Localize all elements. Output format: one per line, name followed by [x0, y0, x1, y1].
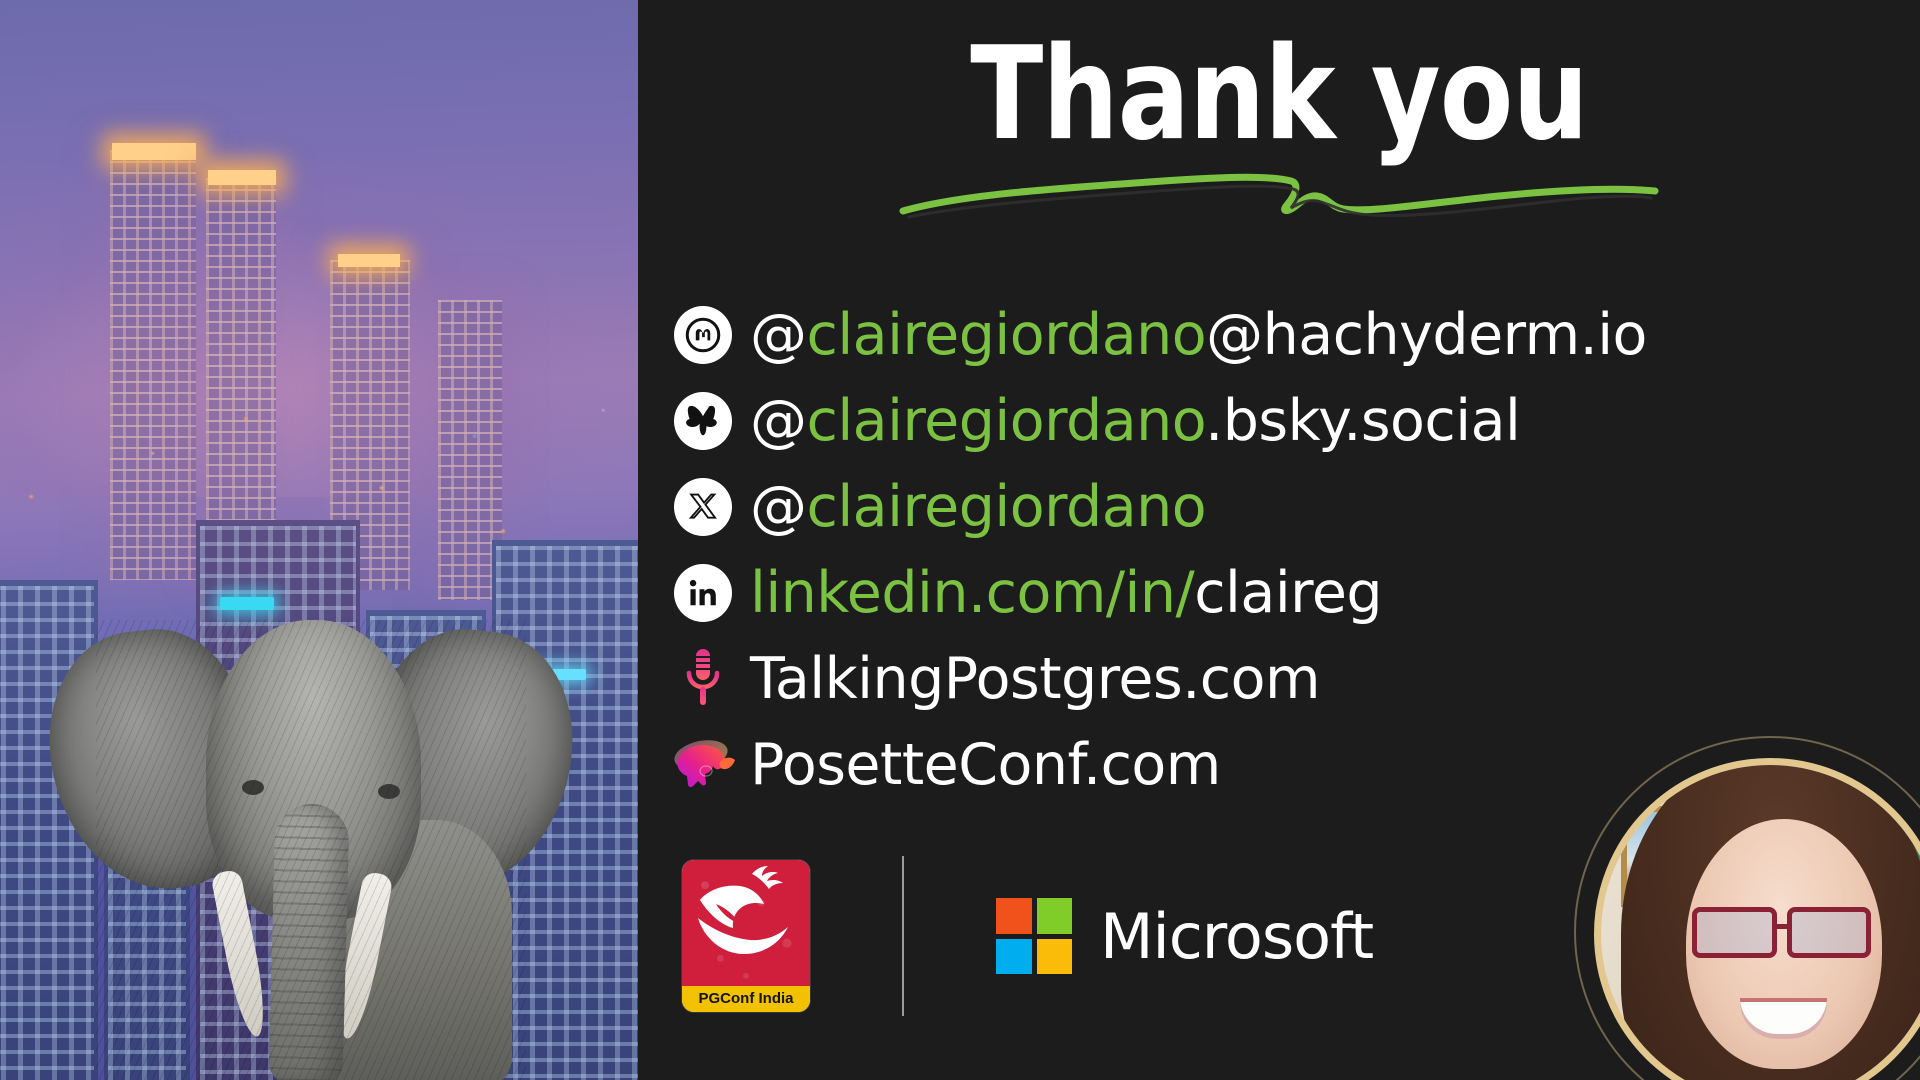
- at-prefix: @: [750, 388, 807, 454]
- pgconf-caption: PGConf India: [682, 986, 810, 1012]
- avatar-glasses-right: [1787, 907, 1872, 958]
- microphone-icon-slot: [656, 646, 750, 712]
- x-twitter-icon[interactable]: [674, 478, 732, 536]
- city-skyline-image: [0, 0, 638, 1080]
- tower-crown-light: [208, 170, 276, 185]
- title-block: Thank you: [638, 30, 1920, 223]
- posette-elephant-icon[interactable]: [667, 735, 739, 795]
- pgconf-india-logo: PGConf India: [682, 860, 810, 1012]
- elephant-eye-right: [378, 784, 400, 799]
- ms-square-blue: [996, 939, 1032, 975]
- mastodon-icon-slot: [656, 306, 750, 364]
- contact-row-mastodon[interactable]: @clairegiordano@hachyderm.io: [656, 292, 1856, 378]
- contact-row-podcast[interactable]: TalkingPostgres.com: [656, 636, 1856, 722]
- tower-crown-light: [112, 143, 196, 160]
- at-prefix: @: [750, 302, 807, 368]
- linkedin-username: claireg: [1194, 560, 1382, 626]
- linkedin-icon[interactable]: [674, 564, 732, 622]
- domain-suffix: @hachyderm.io: [1206, 302, 1647, 368]
- bluesky-icon-slot: [656, 392, 750, 450]
- posette-url-text[interactable]: PosetteConf.com: [750, 732, 1221, 798]
- domain-suffix: .bsky.social: [1205, 388, 1520, 454]
- avatar: [1594, 758, 1920, 1080]
- contact-row-x[interactable]: @clairegiordano: [656, 464, 1856, 550]
- bluesky-butterfly-icon[interactable]: [674, 392, 732, 450]
- avatar-glasses-bridge: [1773, 924, 1790, 929]
- logo-divider: [902, 856, 904, 1016]
- ms-square-orange: [996, 898, 1032, 934]
- microphone-icon[interactable]: [679, 646, 727, 712]
- content-panel: Thank you @clairegiordano@hachyderm.io: [638, 0, 1920, 1080]
- ms-square-green: [1037, 898, 1073, 934]
- pgconf-peacock-art: [682, 860, 810, 986]
- mastodon-icon[interactable]: [674, 306, 732, 364]
- elephant-eye-left: [242, 780, 264, 795]
- handle: clairegiordano: [807, 388, 1206, 454]
- handle: clairegiordano: [807, 474, 1207, 540]
- at-prefix: @: [750, 474, 807, 540]
- green-underline-squiggle: [899, 165, 1659, 223]
- linkedin-url-text[interactable]: linkedin.com/in/claireg: [750, 560, 1382, 626]
- contact-row-bluesky[interactable]: @clairegiordano.bsky.social: [656, 378, 1856, 464]
- podcast-url-text[interactable]: TalkingPostgres.com: [750, 646, 1320, 712]
- bluesky-handle-text[interactable]: @clairegiordano.bsky.social: [750, 388, 1520, 454]
- handle: clairegiordano: [807, 302, 1207, 368]
- page-title: Thank you: [683, 30, 1875, 161]
- contact-row-linkedin[interactable]: linkedin.com/in/claireg: [656, 550, 1856, 636]
- mastodon-handle-text[interactable]: @clairegiordano@hachyderm.io: [750, 302, 1647, 368]
- x-handle-text[interactable]: @clairegiordano: [750, 474, 1206, 540]
- elephant-trunk: [268, 803, 349, 1080]
- ms-square-yellow: [1037, 939, 1073, 975]
- posette-icon-slot: [656, 735, 750, 795]
- microsoft-wordmark: Microsoft: [1100, 900, 1373, 973]
- x-icon-slot: [656, 478, 750, 536]
- linkedin-icon-slot: [656, 564, 750, 622]
- linkedin-url-prefix: linkedin.com/in/: [750, 560, 1194, 626]
- avatar-glasses-left: [1692, 907, 1777, 958]
- thank-you-slide: Thank you @clairegiordano@hachyderm.io: [0, 0, 1920, 1080]
- tower-crown-light: [338, 254, 400, 267]
- microsoft-squares: [996, 898, 1072, 974]
- elephant-photo: [96, 620, 526, 1080]
- neon-sign: [220, 597, 274, 610]
- sponsor-logos: PGConf India Microsoft: [682, 846, 1373, 1026]
- contact-links-list: @clairegiordano@hachyderm.io @clairegior…: [656, 292, 1856, 808]
- microsoft-logo: Microsoft: [996, 898, 1373, 974]
